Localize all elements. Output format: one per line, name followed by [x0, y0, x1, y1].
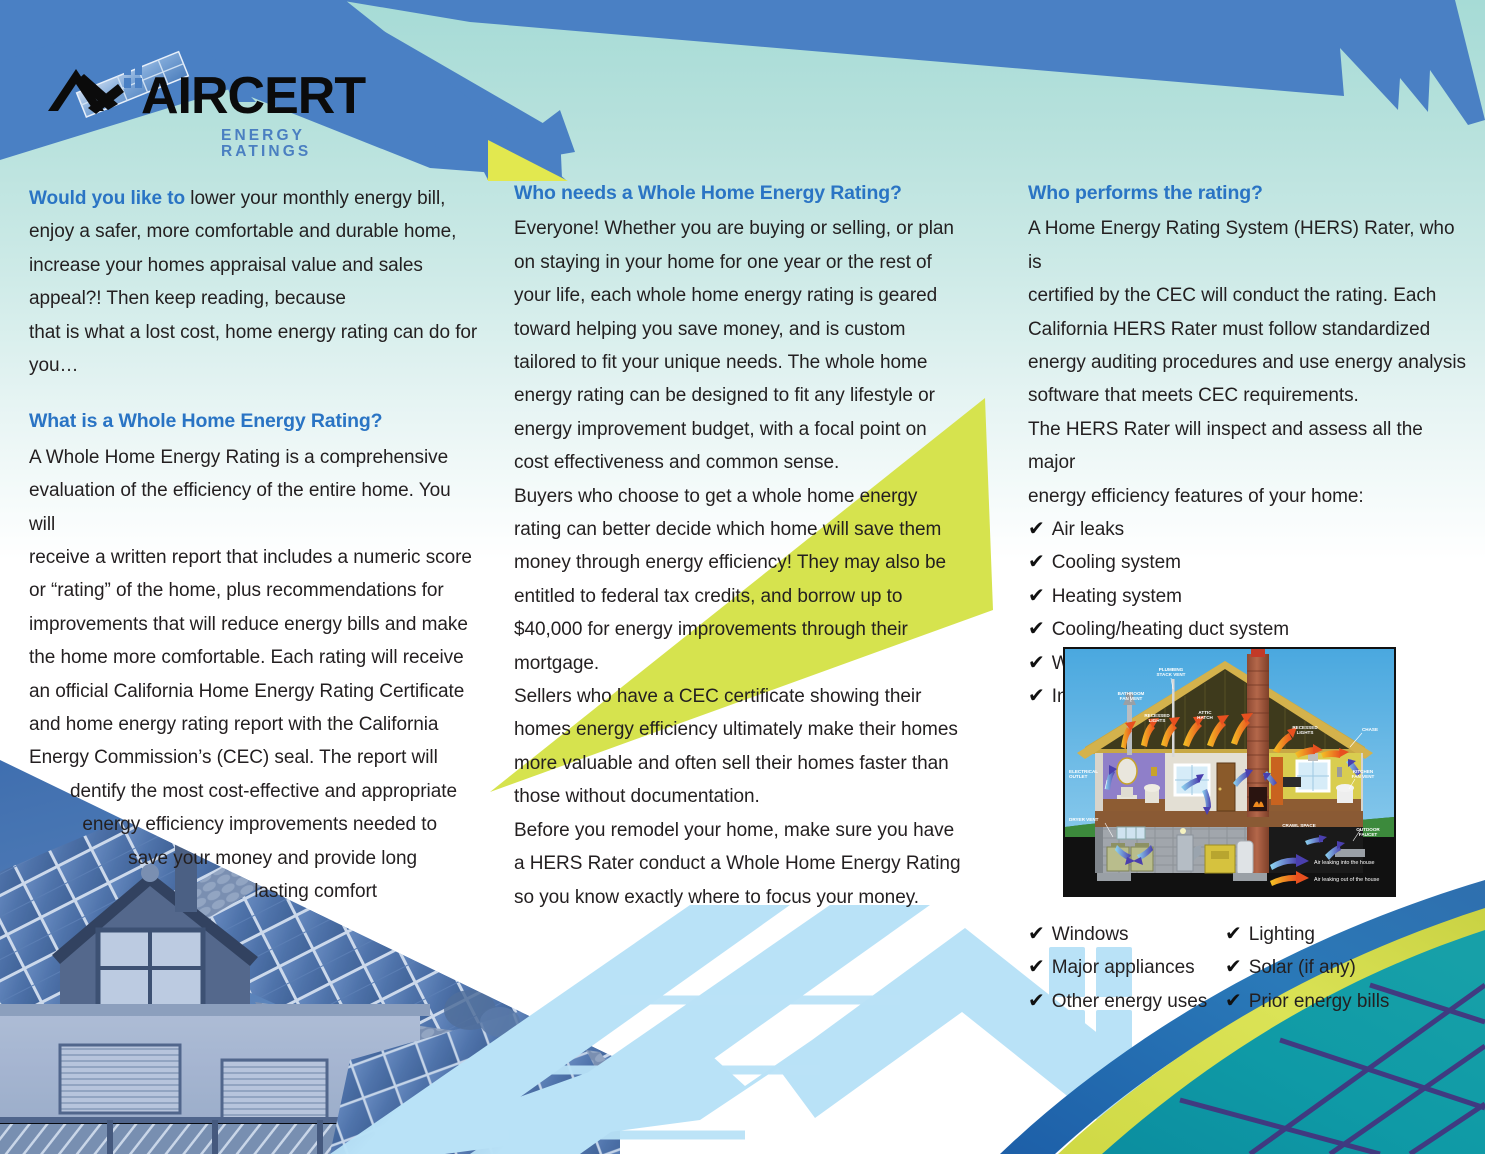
svg-text:FAN VENT: FAN VENT [1120, 696, 1143, 701]
list-item: ✔Solar (if any) [1225, 951, 1389, 984]
house-diagram-svg: PLUMBINGSTACK VENT BATHROOMFAN VENT RECE… [1065, 649, 1394, 895]
check-label: Prior energy bills [1249, 985, 1390, 1018]
svg-text:DRYER VENT: DRYER VENT [1069, 817, 1099, 822]
svg-text:CHASE: CHASE [1362, 727, 1378, 732]
list-item: ✔Major appliances [1028, 951, 1203, 984]
check-icon: ✔ [1225, 990, 1242, 1010]
svg-text:Air leaking out of the house: Air leaking out of the house [1314, 877, 1379, 883]
list-item: ✔Prior energy bills [1225, 985, 1389, 1018]
svg-text:FAN VENT: FAN VENT [1352, 774, 1375, 779]
check-icon: ✔ [1028, 990, 1045, 1010]
svg-text:CRAWL SPACE: CRAWL SPACE [1282, 823, 1316, 828]
check-label: Windows [1052, 918, 1129, 951]
svg-text:Air leaking into the house: Air leaking into the house [1314, 860, 1375, 866]
check-label: Solar (if any) [1249, 951, 1356, 984]
check-icon: ✔ [1028, 923, 1045, 943]
check-label: Major appliances [1052, 951, 1195, 984]
brand-logo[interactable]: AIRCERT ENERGY RATINGS [36, 36, 346, 141]
check-label: Other energy uses [1052, 985, 1207, 1018]
check-label: Lighting [1249, 918, 1315, 951]
logo-tagline: ENERGY RATINGS [221, 128, 346, 159]
list-item: ✔Other energy uses [1028, 985, 1203, 1018]
check-icon: ✔ [1225, 956, 1242, 976]
check-icon: ✔ [1225, 923, 1242, 943]
svg-text:OUTLET: OUTLET [1069, 774, 1088, 779]
svg-text:HATCH: HATCH [1197, 715, 1213, 720]
checklist-bottom-right: ✔Lighting ✔Solar (if any) ✔Prior energy … [1225, 918, 1389, 1018]
svg-text:LIGHTS: LIGHTS [1297, 730, 1314, 735]
svg-text:LIGHTS: LIGHTS [1149, 718, 1166, 723]
logo-wordmark: AIRCERT [141, 70, 365, 122]
svg-text:FAUCET: FAUCET [1359, 832, 1378, 837]
list-item: ✔Lighting [1225, 918, 1389, 951]
check-icon: ✔ [1028, 956, 1045, 976]
list-item: ✔Windows [1028, 918, 1203, 951]
checklist-bottom-left: ✔Windows ✔Major appliances ✔Other energy… [1028, 918, 1203, 1018]
svg-text:STACK VENT: STACK VENT [1156, 672, 1185, 677]
checklist-bottom: ✔Windows ✔Major appliances ✔Other energy… [1028, 918, 1448, 1018]
brochure-page: AIRCERT ENERGY RATINGS Would you like to… [0, 0, 1485, 1154]
house-cutaway-diagram: PLUMBINGSTACK VENT BATHROOMFAN VENT RECE… [1063, 647, 1396, 897]
